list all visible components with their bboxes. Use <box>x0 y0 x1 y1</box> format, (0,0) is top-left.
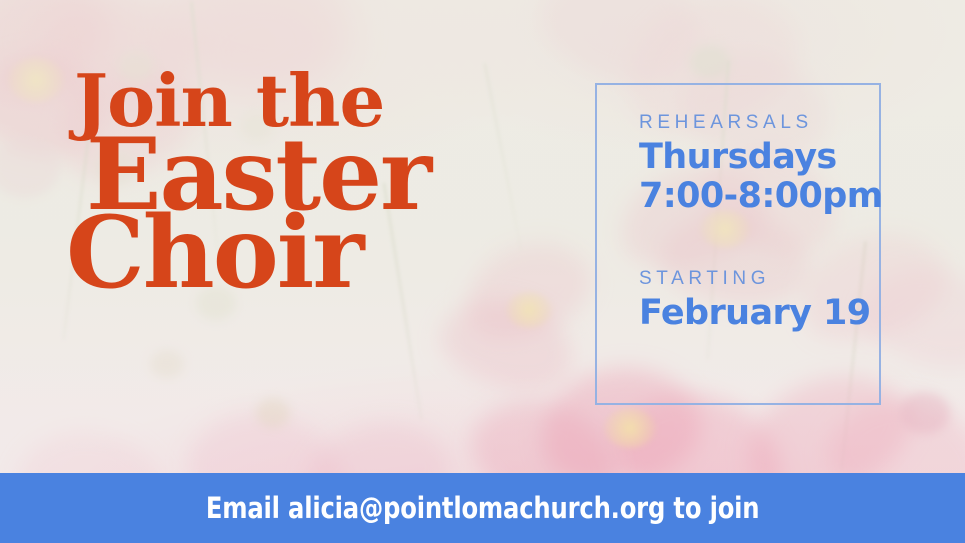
rehearsals-time: 7:00-8:00pm <box>639 177 879 216</box>
schedule-info-box: REHEARSALS Thursdays 7:00-8:00pm STARTIN… <box>595 83 881 405</box>
contact-banner: Email alicia@pointlomachurch.org to join <box>0 473 965 543</box>
page-title: Join the Easter Choir <box>66 68 430 299</box>
schedule-info-content: REHEARSALS Thursdays 7:00-8:00pm STARTIN… <box>639 112 879 334</box>
rehearsals-day: Thursdays <box>639 138 879 177</box>
easter-choir-slide: Join the Easter Choir REHEARSALS Thursda… <box>0 0 965 543</box>
starting-label: STARTING <box>639 268 879 290</box>
starting-date: February 19 <box>639 294 879 333</box>
rehearsals-group: REHEARSALS Thursdays 7:00-8:00pm <box>639 112 879 216</box>
starting-group: STARTING February 19 <box>639 268 879 333</box>
contact-banner-text: Email alicia@pointlomachurch.org to join <box>206 491 760 525</box>
rehearsals-label: REHEARSALS <box>639 112 879 134</box>
